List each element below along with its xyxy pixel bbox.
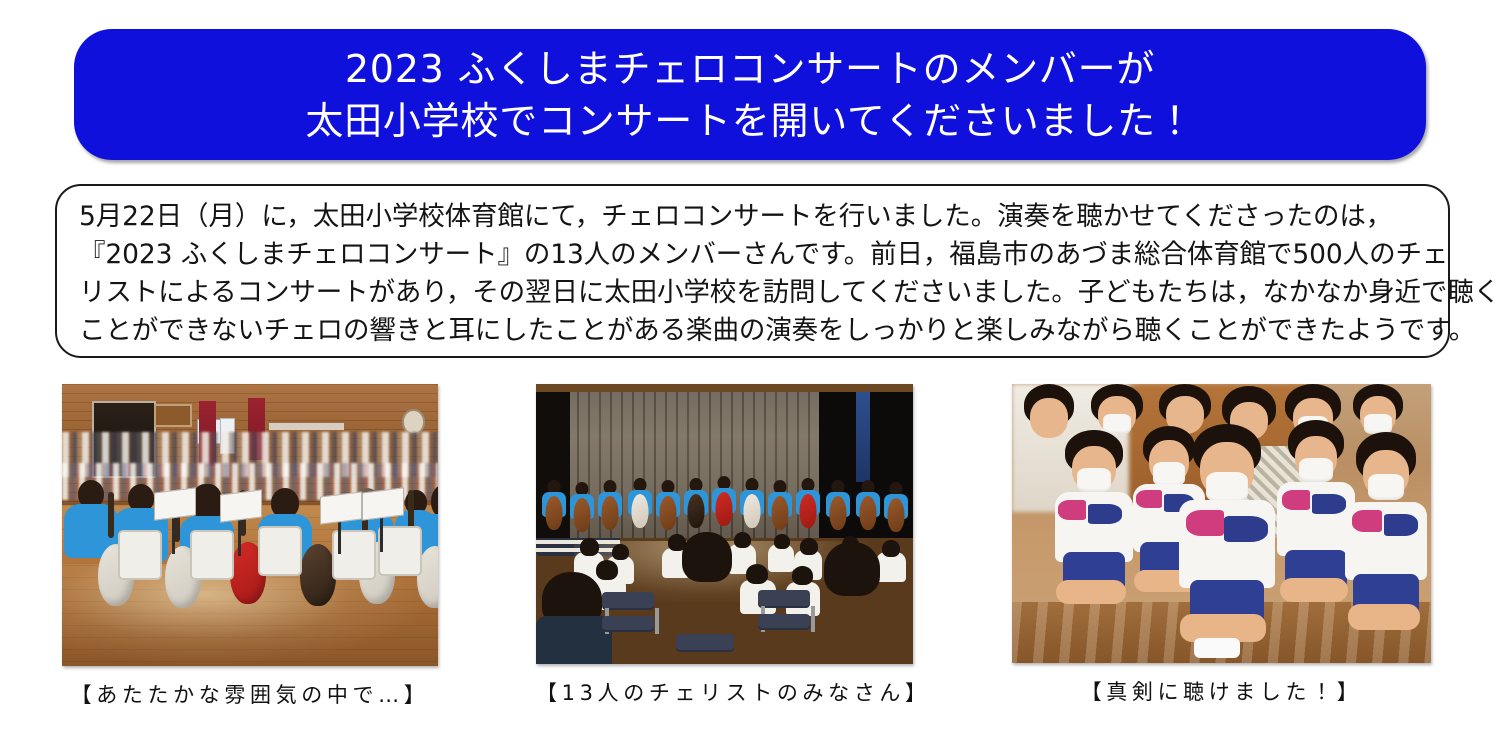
- photo-caption-3: 【真剣に聴けました！】: [1012, 676, 1431, 706]
- article-line-1: 5月22日（月）に，太田小学校体育館にて，チェロコンサートを行いました。演奏を聴…: [79, 198, 1426, 236]
- header-title-line-2: 太田小学校でコンサートを開いてくださいました！: [305, 95, 1194, 147]
- photo-cell-children-listening: 【真剣に聴けました！】: [1012, 384, 1431, 706]
- photo-cell-gym-circle: 【あたたかな雰囲気の中で…】: [62, 384, 438, 709]
- header-banner: 2023 ふくしまチェロコンサートのメンバーが 太田小学校でコンサートを開いてく…: [74, 29, 1426, 160]
- photo-children-listening: [1012, 384, 1431, 663]
- article-text-box: 5月22日（月）に，太田小学校体育館にて，チェロコンサートを行いました。演奏を聴…: [55, 184, 1450, 358]
- article-line-3: リストによるコンサートがあり，その翌日に太田小学校を訪問してくださいました。子ど…: [79, 274, 1426, 312]
- header-title-line-1: 2023 ふくしまチェロコンサートのメンバーが: [345, 43, 1155, 95]
- article-line-4: ことができないチェロの響きと耳にしたことがある楽曲の演奏をしっかりと楽しみながら…: [79, 312, 1426, 350]
- photo-caption-1: 【あたたかな雰囲気の中で…】: [62, 679, 438, 709]
- article-line-2: 『2023 ふくしまチェロコンサート』の13人のメンバーさんです。前日，福島市の…: [79, 236, 1426, 274]
- photo-stage-cellists: [536, 384, 913, 664]
- photo-caption-2: 【13人のチェリストのみなさん】: [536, 677, 913, 707]
- photo-cell-stage-cellists: 【13人のチェリストのみなさん】: [536, 384, 913, 707]
- photo-row: 【あたたかな雰囲気の中で…】: [0, 384, 1500, 724]
- photo-gym-circle: [62, 384, 438, 666]
